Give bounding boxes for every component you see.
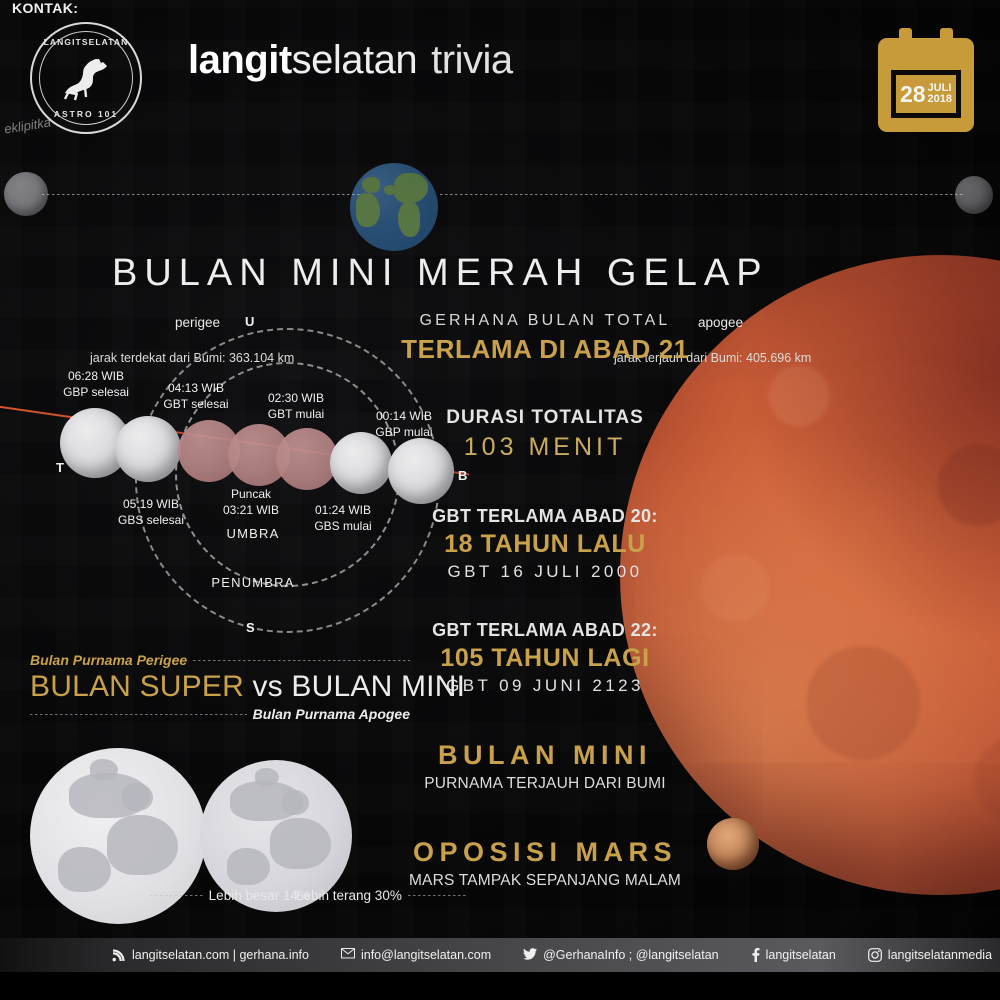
mars-heading: OPOSISI MARS	[400, 837, 690, 868]
super-vs-mini-header: Bulan Purnama Perigee BULAN SUPER vs BUL…	[30, 652, 410, 722]
title-trivia: trivia	[431, 38, 512, 82]
orbit-line-right	[440, 194, 965, 195]
caption-rule-top	[193, 660, 410, 661]
brightness-caption-text: Lebih terang 30%	[296, 888, 402, 903]
mars-planet-image	[707, 818, 759, 870]
contact-twitter[interactable]: @GerhanaInfo ; @langitselatan	[507, 948, 734, 962]
title-vs: vs	[244, 670, 291, 703]
orbit-distance-band: perigee jarak terdekat dari Bumi: 363.10…	[0, 150, 1000, 242]
century22-value: 105 TAHUN LAGI	[400, 644, 690, 673]
calendar-year: 2018	[928, 94, 952, 105]
eclipse-kind-label: GERHANA BULAN TOTAL	[400, 312, 690, 330]
century20-label: GBT TERLAMA ABAD 20:	[400, 506, 690, 527]
facebook-icon	[751, 948, 760, 962]
logo-bottom-text: ASTRO 101	[32, 109, 140, 119]
century20-value: 18 TAHUN LALU	[400, 530, 690, 559]
contact-email[interactable]: info@langitselatan.com	[325, 948, 507, 962]
instagram-icon	[868, 948, 882, 962]
minimoon-block: BULAN MINI PURNAMA TERJAUH DARI BUMI	[400, 740, 690, 793]
footer-contact-items: langitselatan.com | gerhana.info info@la…	[96, 948, 1000, 962]
perigee-caption-row: Bulan Purnama Perigee	[30, 652, 410, 668]
page-title: langitselatantrivia	[188, 38, 513, 83]
calendar-month-year: JULI 2018	[928, 83, 952, 105]
caption-rule-bottom	[30, 714, 247, 715]
contact-website-text: langitselatan.com | gerhana.info	[132, 948, 309, 962]
apogee-caption-row: Bulan Purnama Apogee	[30, 706, 410, 722]
calendar-day: 28	[900, 83, 926, 106]
eclipse-kind-block: GERHANA BULAN TOTAL TERLAMA DI ABAD 21	[400, 312, 690, 365]
brightness-caption-row: Lebih terang 30%	[296, 888, 466, 903]
horse-rider-icon	[55, 53, 117, 103]
phase-label-gbp-selesai: 06:28 WIB GBP selesai	[40, 368, 152, 400]
calendar-screen: 28 JULI 2018	[891, 70, 961, 118]
eclipse-superlative: TERLAMA DI ABAD 21	[400, 334, 690, 365]
eclipse-moon-gbs-mulai	[330, 432, 392, 494]
brightness-caption-rule	[408, 895, 466, 896]
orbit-line-left	[42, 194, 360, 195]
infographic-main-title: BULAN MINI MERAH GELAP	[112, 252, 769, 295]
duration-label: DURASI TOTALITAS	[400, 407, 690, 429]
calendar-date-box: 28 JULI 2018	[896, 75, 956, 113]
size-caption-rule	[150, 895, 203, 896]
title-bulan-mini: BULAN MINI	[291, 670, 465, 703]
apogee-caption: Bulan Purnama Apogee	[253, 706, 410, 722]
duration-value: 103 MENIT	[400, 433, 690, 462]
phase-label-gbt-mulai: 02:30 WIB GBT mulai	[240, 390, 352, 422]
umbra-zone-label: UMBRA	[198, 526, 308, 541]
direction-mark-t: T	[56, 460, 64, 475]
century20-block: GBT TERLAMA ABAD 20: 18 TAHUN LALU GBT 1…	[400, 506, 690, 582]
century22-label: GBT TERLAMA ABAD 22:	[400, 620, 690, 641]
eclipse-moon-gbs-selesai	[115, 416, 181, 482]
title-selatan: selatan	[292, 38, 417, 82]
contact-twitter-text: @GerhanaInfo ; @langitselatan	[543, 948, 718, 962]
contact-website[interactable]: langitselatan.com | gerhana.info	[96, 948, 325, 962]
apogee-label: apogee	[698, 315, 743, 330]
contact-facebook[interactable]: langitselatan	[735, 948, 852, 962]
kontak-label: KONTAK:	[12, 0, 78, 16]
super-vs-mini-title: BULAN SUPER vs BULAN MINI	[30, 670, 410, 704]
calendar-icon: 28 JULI 2018	[878, 28, 974, 132]
contact-facebook-text: langitselatan	[766, 948, 836, 962]
duration-block: DURASI TOTALITAS 103 MENIT	[400, 407, 690, 462]
eclipse-moon-gbt-mulai	[276, 428, 338, 490]
minimoon-heading: BULAN MINI	[400, 740, 690, 771]
calendar-body: 28 JULI 2018	[878, 38, 974, 132]
mail-icon	[341, 948, 355, 962]
contact-instagram[interactable]: langitselatanmedia	[852, 948, 1000, 962]
eclipse-facts-column: GERHANA BULAN TOTAL TERLAMA DI ABAD 21 D…	[400, 312, 690, 890]
contact-footer-bar: langitselatan.com | gerhana.info info@la…	[0, 938, 1000, 972]
size-caption-text: Lebih besar 14%	[209, 888, 310, 903]
langitselatan-logo: LANGITSELATAN ASTRO 101	[30, 22, 142, 134]
logo-top-text: LANGITSELATAN	[32, 37, 140, 47]
direction-mark-s: S	[246, 620, 255, 635]
contact-email-text: info@langitselatan.com	[361, 948, 491, 962]
eclipse-peak-label: Puncak 03:21 WIB	[196, 486, 306, 518]
title-langit: langit	[188, 38, 292, 82]
size-caption-row: Lebih besar 14%	[150, 888, 310, 903]
rss-icon	[112, 948, 126, 962]
twitter-icon	[523, 948, 537, 962]
minimoon-subtitle: PURNAMA TERJAUH DARI BUMI	[400, 775, 690, 793]
phase-label-gbs-selesai: 05:19 WIB GBS selesai	[96, 496, 206, 528]
century20-date: GBT 16 JULI 2000	[400, 562, 690, 582]
mars-block: OPOSISI MARS MARS TAMPAK SEPANJANG MALAM	[400, 837, 690, 890]
perigee-caption: Bulan Purnama Perigee	[30, 652, 187, 668]
penumbra-zone-label: PENUMBRA	[190, 575, 316, 590]
contact-instagram-text: langitselatanmedia	[888, 948, 992, 962]
footer-bottom-strip	[0, 972, 1000, 1000]
direction-mark-u: U	[245, 314, 254, 329]
title-bulan-super: BULAN SUPER	[30, 670, 244, 703]
phase-label-gbt-selesai: 04:13 WIB GBT selesai	[140, 380, 252, 412]
